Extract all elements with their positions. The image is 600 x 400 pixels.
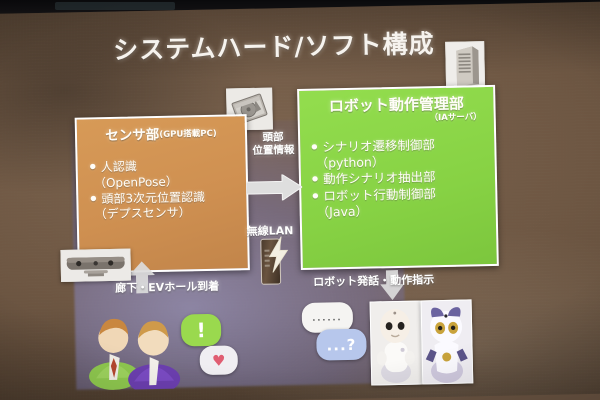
server-tower-icon	[446, 42, 484, 91]
exclamation-bubble: !	[181, 314, 222, 347]
humanoid-robot-icon	[371, 302, 422, 385]
page-title: システムハード/ソフト構成	[113, 24, 435, 67]
head-position-line1: 頭部	[262, 131, 283, 143]
small-robot-icon	[422, 300, 473, 383]
robot-box-title: ロボット動作管理部 （IAサーバ）	[299, 87, 494, 126]
lightning-bolt-icon	[267, 236, 290, 272]
robot-instruction-caption: ロボット発話・動作指示	[313, 271, 434, 290]
sensor-box-title-main: センサ部	[105, 127, 159, 144]
right-arrow-icon	[246, 174, 303, 201]
depth-sensor-photo	[60, 249, 131, 282]
sensor-box-subtitle: (GPU搭載PC)	[159, 129, 217, 140]
sensor-box-bullets: 人認識 （OpenPose） 頭部3次元位置認識 （デプスセンサ）	[90, 157, 247, 224]
depth-sensor-icon	[61, 250, 130, 281]
head-position-arrow: 頭部 位置情報	[243, 131, 305, 218]
wireless-lan-group: 無線LAN	[239, 222, 302, 285]
head-position-line2: 位置情報	[252, 144, 294, 157]
person-purple-icon	[127, 321, 181, 391]
list-item: （デプスセンサ）	[91, 204, 247, 223]
projected-slide-photo: システムハード/ソフト構成	[0, 0, 600, 400]
small-robot-photo	[421, 299, 474, 384]
robot-control-box: ロボット動作管理部 （IAサーバ） シナリオ遷移制御部 （python） 動作シ…	[297, 85, 499, 270]
sensor-box-title: センサ部(GPU搭載PC)	[77, 116, 245, 144]
list-item: （Java）	[313, 201, 496, 221]
question-bubble: ...?	[316, 329, 367, 361]
heart-bubble: ♥	[199, 345, 238, 375]
robot-box-bullets: シナリオ遷移制御部 （python） 動作シナリオ抽出部 ロボット行動制御部 （…	[311, 136, 496, 221]
arrival-caption: 廊下・EVホール到着	[115, 278, 219, 296]
head-position-arrow-label: 頭部 位置情報	[243, 131, 304, 159]
slide-content: システムハード/ソフト構成	[0, 0, 600, 400]
humanoid-robot-photo	[370, 301, 423, 386]
